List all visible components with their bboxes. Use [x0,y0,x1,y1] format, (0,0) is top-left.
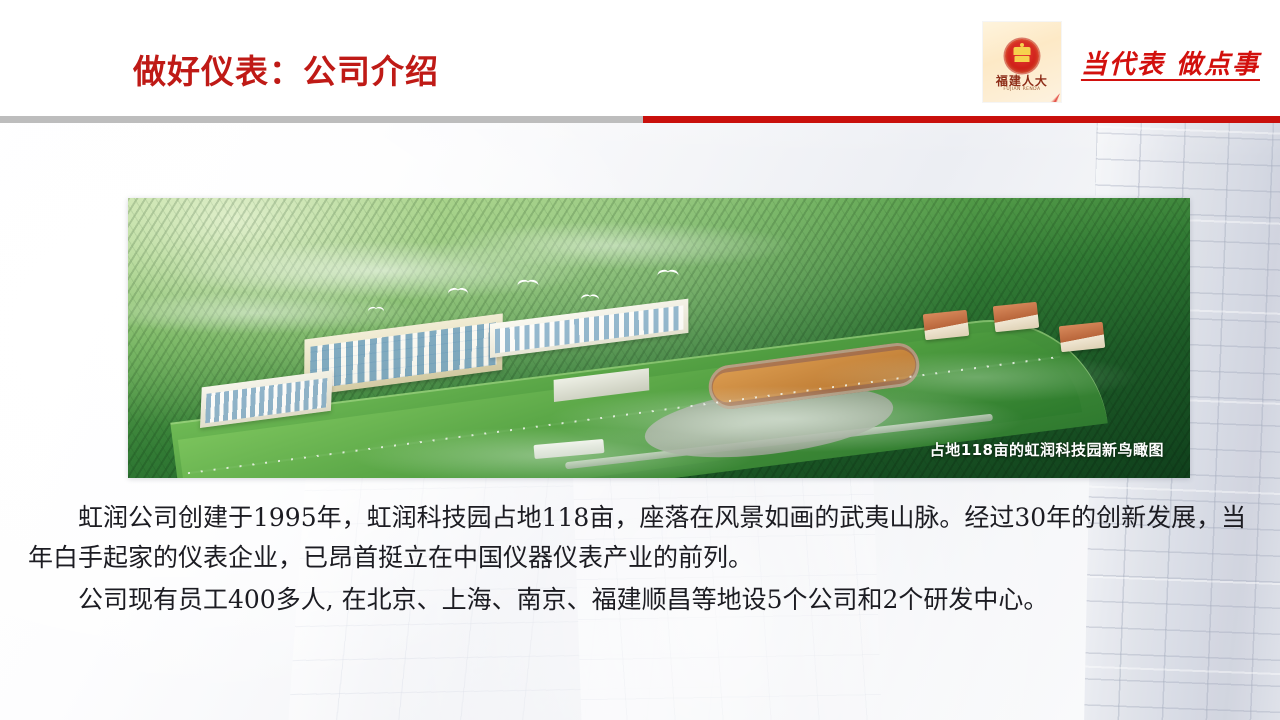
fujian-renda-logo: 福建人大 FUJIAN RENDA [983,22,1061,102]
image-caption: 占地118亩的虹润科技园新鸟瞰图 [930,439,1164,460]
slide-root: 做好仪表：公司介绍 福建人大 FUJIAN RENDA 当代表 做点事 [0,0,1280,720]
campus-aerial-image: 占地118亩的虹润科技园新鸟瞰图 [128,198,1190,478]
divider-red-segment [643,116,1280,123]
slide-header: 做好仪表：公司介绍 福建人大 FUJIAN RENDA 当代表 做点事 [0,0,1280,116]
logo-subtext: FUJIAN RENDA [983,87,1061,92]
divider-gray-segment [0,116,643,123]
brand-block: 福建人大 FUJIAN RENDA 当代表 做点事 [983,22,1264,102]
header-divider [0,116,1280,123]
paragraph-1: 虹润公司创建于1995年，虹润科技园占地118亩，座落在风景如画的武夷山脉。经过… [28,498,1256,578]
mist-overlay [128,198,1190,478]
paragraph-2: 公司现有员工400多人, 在北京、上海、南京、福建顺昌等地设5个公司和2个研发中… [28,580,1256,620]
body-copy: 虹润公司创建于1995年，虹润科技园占地118亩，座落在风景如画的武夷山脉。经过… [28,498,1256,620]
national-emblem-icon [1005,39,1039,73]
brand-slogan: 当代表 做点事 [1081,44,1264,81]
page-title: 做好仪表：公司介绍 [133,45,439,93]
